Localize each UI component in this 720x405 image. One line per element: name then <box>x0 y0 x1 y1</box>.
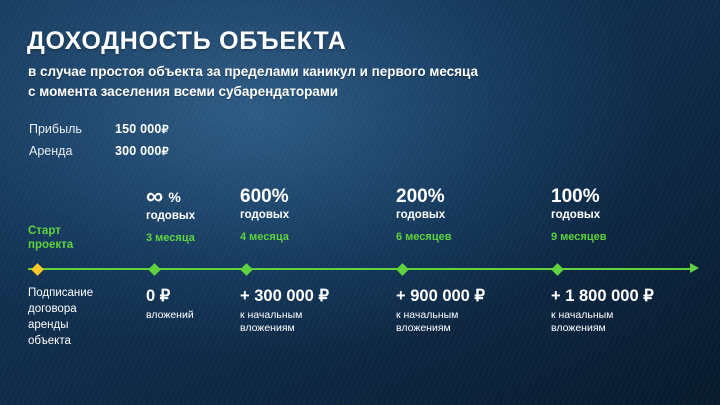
amount-4m-sub: к начальным вложениям <box>396 309 546 335</box>
timeline-node-6m <box>396 263 409 276</box>
milestone-4m-top: 600% годовых 4 месяца <box>240 186 380 243</box>
start-description-line-3: аренды <box>28 317 93 333</box>
start-description-line-1: Подписание <box>28 285 93 301</box>
milestone-4m-percent-sub: годовых <box>240 208 380 222</box>
timeline-node-9m <box>551 263 564 276</box>
amount-4m-sub-line-1: к начальным <box>396 309 546 322</box>
parameter-row-rent: Аренда 300 000 ₽ <box>29 144 169 166</box>
milestone-3m-top: ∞ % годовых 3 месяца <box>146 186 236 244</box>
start-label-line-1: Старт <box>28 224 73 238</box>
amount-6m-sub: к начальным вложениям <box>551 309 711 335</box>
milestone-4m-percent: 600% <box>240 186 380 207</box>
timeline-arrow-icon <box>690 263 699 273</box>
timeline-axis <box>28 268 696 270</box>
subtitle-line-2: с момента заселения всеми субарендаторам… <box>28 82 628 102</box>
amount-6m-block: + 1 800 000 ₽ к начальным вложениям <box>551 287 711 335</box>
amount-4m: + 900 000 ₽ <box>396 287 546 305</box>
start-description: Подписание договора аренды объекта <box>28 285 93 349</box>
parameter-value-profit: 150 000 <box>115 122 162 136</box>
milestone-3m-percent-sub: годовых <box>146 209 236 223</box>
parameter-value-rent: 300 000 <box>115 144 162 158</box>
milestone-3m-percent: ∞ % <box>146 186 236 208</box>
page-title: ДОХОДНОСТЬ ОБЪЕКТА <box>27 27 347 56</box>
timeline-node-3m <box>148 263 161 276</box>
milestone-9m-percent: 100% <box>551 186 701 207</box>
timeline-node-4m <box>240 263 253 276</box>
milestone-4m-months: 4 месяца <box>240 231 380 243</box>
amount-4m-block: + 900 000 ₽ к начальным вложениям <box>396 287 546 335</box>
page-subtitle: в случае простоя объекта за пределами ка… <box>28 62 628 102</box>
milestone-6m-top: 200% годовых 6 месяцев <box>396 186 536 243</box>
milestone-6m-months: 6 месяцев <box>396 231 536 243</box>
amount-start-sub: вложений <box>146 309 226 322</box>
amount-3m-block: + 300 000 ₽ к начальным вложениям <box>240 287 390 335</box>
parameters-block: Прибыль 150 000 ₽ Аренда 300 000 ₽ <box>29 122 169 166</box>
ruble-icon-profit: ₽ <box>162 123 169 136</box>
amount-6m-sub-line-1: к начальным <box>551 309 711 322</box>
amount-6m: + 1 800 000 ₽ <box>551 287 711 305</box>
amount-start: 0 ₽ <box>146 287 226 305</box>
milestone-6m-percent: 200% <box>396 186 536 207</box>
amount-3m-sub-line-2: вложениям <box>240 322 390 335</box>
amount-4m-sub-line-2: вложениям <box>396 322 546 335</box>
slide-canvas: ДОХОДНОСТЬ ОБЪЕКТА в случае простоя объе… <box>0 0 720 405</box>
milestone-3m-months: 3 месяца <box>146 232 236 244</box>
start-label: Старт проекта <box>28 224 73 252</box>
infinity-icon: ∞ <box>146 183 163 210</box>
parameter-label-profit: Прибыль <box>29 122 115 136</box>
start-label-line-2: проекта <box>28 238 73 252</box>
milestone-6m-percent-sub: годовых <box>396 208 536 222</box>
amount-6m-sub-line-2: вложениям <box>551 322 711 335</box>
milestone-9m-top: 100% годовых 9 месяцев <box>551 186 701 243</box>
amount-start-block: 0 ₽ вложений <box>146 287 226 322</box>
timeline-node-start <box>31 263 44 276</box>
parameter-label-rent: Аренда <box>29 144 115 158</box>
amount-3m-sub: к начальным вложениям <box>240 309 390 335</box>
milestone-9m-percent-sub: годовых <box>551 208 701 222</box>
milestone-9m-months: 9 месяцев <box>551 231 701 243</box>
parameter-row-profit: Прибыль 150 000 ₽ <box>29 122 169 144</box>
subtitle-line-1: в случае простоя объекта за пределами ка… <box>28 62 628 82</box>
amount-3m: + 300 000 ₽ <box>240 287 390 305</box>
amount-3m-sub-line-1: к начальным <box>240 309 390 322</box>
start-description-line-4: объекта <box>28 333 93 349</box>
start-description-line-2: договора <box>28 301 93 317</box>
ruble-icon-rent: ₽ <box>162 145 169 158</box>
milestone-3m-percent-symbol: % <box>168 189 180 205</box>
